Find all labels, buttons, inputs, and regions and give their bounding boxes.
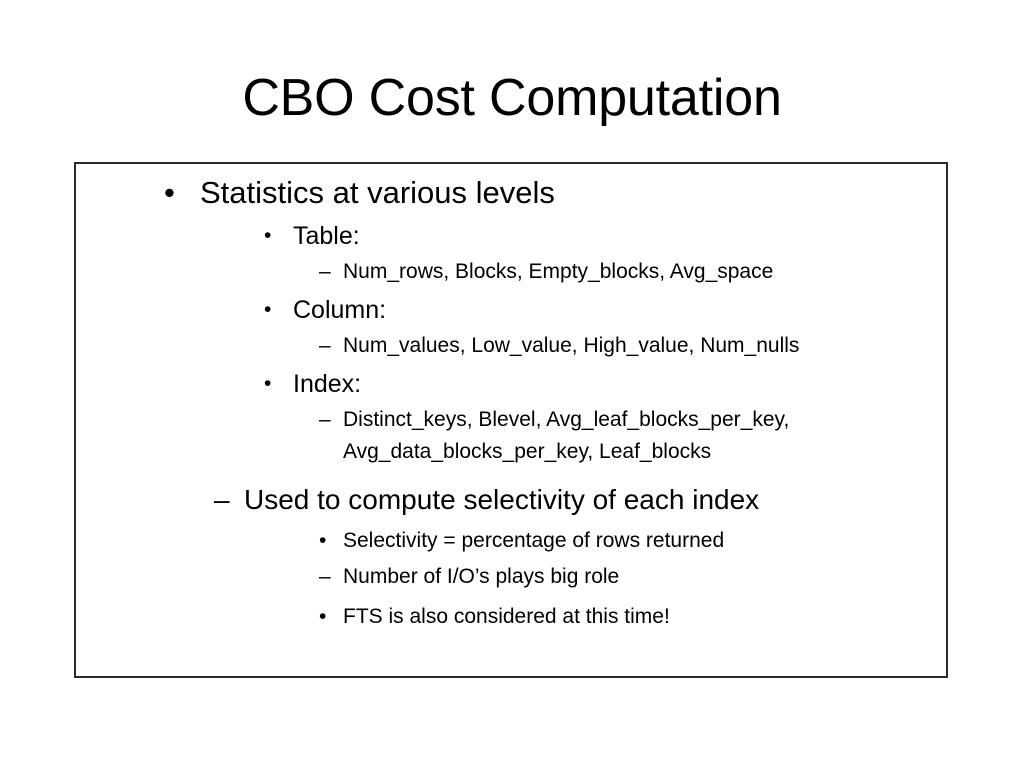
bullet-marker-icon: • xyxy=(319,600,326,634)
list-item-label: Column: xyxy=(293,290,950,330)
content-box: • Statistics at various levels • Table: … xyxy=(74,162,948,678)
list-item-label: Num_values, Low_value, High_value, Num_n… xyxy=(343,330,950,362)
bullet-marker-icon: • xyxy=(264,216,271,256)
list-item: • Index: xyxy=(76,364,950,404)
list-item-label: Num_rows, Blocks, Empty_blocks, Avg_spac… xyxy=(343,256,950,288)
list-item: – Used to compute selectivity of each in… xyxy=(76,478,950,522)
list-item-label: Number of I/O’s plays big role xyxy=(343,560,950,594)
list-item-label: Table: xyxy=(293,216,950,256)
bullet-list: • Statistics at various levels • Table: … xyxy=(76,172,950,634)
list-item-label: Statistics at various levels xyxy=(200,172,950,214)
bullet-marker-icon: • xyxy=(164,172,175,214)
bullet-marker-icon: • xyxy=(264,364,271,404)
dash-marker-icon: – xyxy=(319,404,331,436)
page-title: CBO Cost Computation xyxy=(0,68,1024,128)
list-item: – Distinct_keys, Blevel, Avg_leaf_blocks… xyxy=(76,404,950,468)
list-item-label: Index: xyxy=(293,364,950,404)
bullet-marker-icon: • xyxy=(264,290,271,330)
list-item: – Num_rows, Blocks, Empty_blocks, Avg_sp… xyxy=(76,256,950,288)
list-item: • Selectivity = percentage of rows retur… xyxy=(76,524,950,558)
list-item-label: Used to compute selectivity of each inde… xyxy=(244,478,950,522)
list-item-label: Distinct_keys, Blevel, Avg_leaf_blocks_p… xyxy=(343,404,950,468)
dash-marker-icon: – xyxy=(214,478,230,522)
list-item: • FTS is also considered at this time! xyxy=(76,600,950,634)
list-item-label: FTS is also considered at this time! xyxy=(343,600,950,634)
list-item: • Table: xyxy=(76,216,950,256)
list-item: • Statistics at various levels xyxy=(76,172,950,214)
bullet-marker-icon: • xyxy=(319,524,326,558)
list-item: – Num_values, Low_value, High_value, Num… xyxy=(76,330,950,362)
list-item-label: Selectivity = percentage of rows returne… xyxy=(343,524,950,558)
dash-marker-icon: – xyxy=(319,330,331,362)
slide: CBO Cost Computation • Statistics at var… xyxy=(0,0,1024,768)
dash-marker-icon: – xyxy=(319,560,331,594)
list-item: • Column: xyxy=(76,290,950,330)
dash-marker-icon: – xyxy=(319,256,331,288)
list-item: – Number of I/O’s plays big role xyxy=(76,560,950,594)
